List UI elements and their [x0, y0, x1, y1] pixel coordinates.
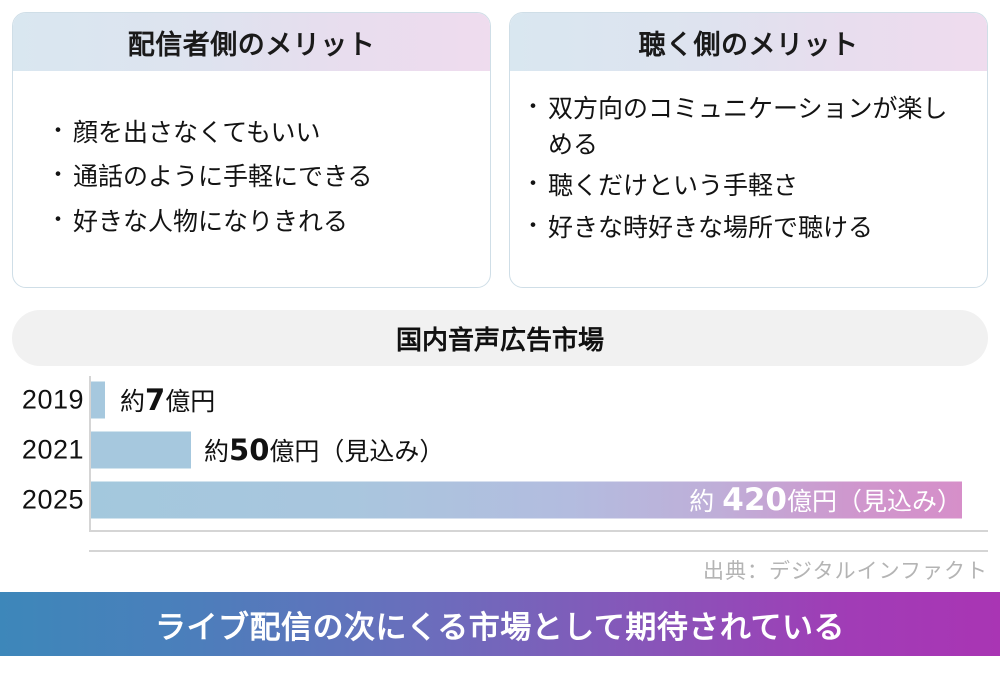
list-item-label: 好きな人物になりきれる — [73, 204, 474, 240]
card-title-listener: 聴く側のメリット — [639, 23, 859, 62]
bar-row: 2021 約50億円（見込み） — [0, 428, 1000, 472]
list-item: ・ 好きな時好きな場所で聴ける — [522, 210, 971, 246]
chart-x-axis — [89, 530, 988, 532]
bullet-dot-icon: ・ — [522, 210, 548, 243]
bullet-list-listener: ・ 双方向のコミュニケーションが楽しめる ・ 聴くだけという手軽さ ・ 好きな時… — [522, 85, 971, 251]
bullet-list-broadcaster: ・ 顔を出さなくてもいい ・ 通話のように手軽にできる ・ 好きな人物になりきれ… — [47, 106, 474, 249]
chart-source-label: 出典：デジタルインファクト — [703, 555, 988, 585]
chart-title-bar: 国内音声広告市場 — [12, 310, 988, 366]
bar-value-number: 420 — [722, 482, 787, 518]
list-item: ・ 通話のように手軽にできる — [47, 159, 474, 195]
list-item: ・ 顔を出さなくてもいい — [47, 115, 474, 151]
bar-value-number: 7 — [145, 383, 165, 417]
bar-value-number: 50 — [229, 433, 269, 467]
bar-value-prefix: 約 — [689, 487, 714, 516]
bullet-dot-icon: ・ — [47, 115, 73, 148]
bar-category-label-2021: 2021 — [0, 435, 84, 466]
bar-value-suffix: 億円（見込み） — [787, 487, 962, 516]
bar-2021 — [91, 432, 191, 469]
bar-category-label-2025: 2025 — [0, 485, 84, 516]
card-body-listener: ・ 双方向のコミュニケーションが楽しめる ・ 聴くだけという手軽さ ・ 好きな時… — [510, 71, 987, 287]
bar-row: 2025 約 420億円（見込み） — [0, 478, 1000, 522]
bar-2019 — [91, 382, 105, 419]
bullet-dot-icon: ・ — [47, 159, 73, 192]
market-chart-section: 国内音声広告市場 2019 約7億円 2021 約50億円（見込み） 2025 … — [0, 300, 1000, 580]
bar-value-prefix: 約 — [120, 387, 145, 416]
bar-category-label-2019: 2019 — [0, 385, 84, 416]
bullet-dot-icon: ・ — [522, 91, 548, 124]
card-body-broadcaster: ・ 顔を出さなくてもいい ・ 通話のように手軽にできる ・ 好きな人物になりきれ… — [13, 71, 490, 287]
chart-title: 国内音声広告市場 — [396, 320, 604, 357]
list-item-label: 好きな時好きな場所で聴ける — [548, 210, 971, 246]
card-title-broadcaster: 配信者側のメリット — [128, 23, 376, 62]
list-item: ・ 好きな人物になりきれる — [47, 204, 474, 240]
list-item-label: 顔を出さなくてもいい — [73, 115, 474, 151]
list-item-label: 双方向のコミュニケーションが楽しめる — [548, 91, 971, 162]
card-header-listener: 聴く側のメリット — [510, 13, 987, 71]
bar-value-prefix: 約 — [204, 437, 229, 466]
list-item: ・ 聴くだけという手軽さ — [522, 168, 971, 204]
bar-value-suffix: 億円 — [165, 387, 215, 416]
conclusion-banner: ライブ配信の次にくる市場として期待されている — [0, 592, 1000, 656]
bar-value-suffix: 億円（見込み） — [269, 437, 444, 466]
bullet-dot-icon: ・ — [522, 168, 548, 201]
source-divider — [89, 550, 988, 552]
list-item: ・ 双方向のコミュニケーションが楽しめる — [522, 91, 971, 162]
bar-value-2025: 約 420億円（見込み） — [689, 482, 962, 518]
card-broadcaster-merits: 配信者側のメリット ・ 顔を出さなくてもいい ・ 通話のように手軽にできる ・ … — [12, 12, 491, 288]
bar-value-2019: 約7億円 — [120, 382, 215, 418]
bullet-dot-icon: ・ — [47, 204, 73, 237]
bar-value-2021: 約50億円（見込み） — [204, 432, 444, 468]
bar-row: 2019 約7億円 — [0, 378, 1000, 422]
list-item-label: 聴くだけという手軽さ — [548, 168, 971, 204]
card-header-broadcaster: 配信者側のメリット — [13, 13, 490, 71]
card-listener-merits: 聴く側のメリット ・ 双方向のコミュニケーションが楽しめる ・ 聴くだけという手… — [509, 12, 988, 288]
bar-chart-plot: 2019 約7億円 2021 約50億円（見込み） 2025 約 420億円（見… — [0, 376, 1000, 546]
banner-text: ライブ配信の次にくる市場として期待されている — [155, 602, 845, 647]
merits-cards-section: 配信者側のメリット ・ 顔を出さなくてもいい ・ 通話のように手軽にできる ・ … — [0, 0, 1000, 300]
list-item-label: 通話のように手軽にできる — [73, 159, 474, 195]
